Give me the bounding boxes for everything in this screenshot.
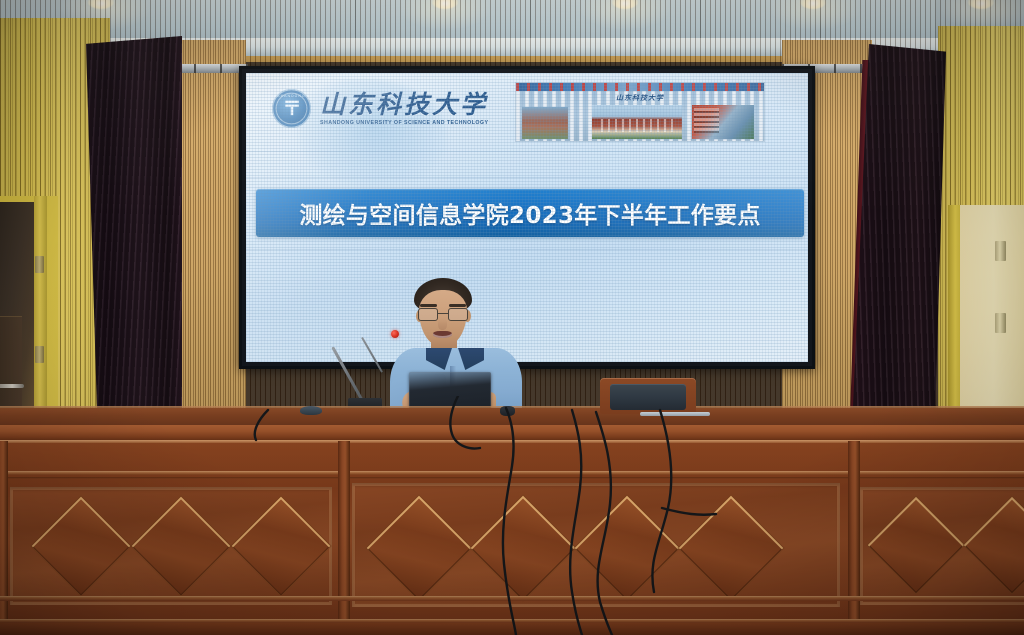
cable-f bbox=[662, 508, 716, 515]
cable-c bbox=[570, 410, 582, 635]
university-seal-icon: SHANDONG 〒 bbox=[272, 89, 311, 128]
collage-gate-title: 山东科技大学 bbox=[616, 93, 664, 103]
door-right-jamb bbox=[948, 205, 960, 428]
slide-title-bar: 测绘与空间信息学院2023年下半年工作要点 bbox=[256, 189, 804, 237]
door-right-hinge-upper bbox=[995, 241, 1006, 261]
collage-top-band bbox=[516, 83, 764, 91]
campus-building-photo bbox=[522, 107, 568, 139]
curtain-left bbox=[86, 36, 182, 428]
university-name-en: SHANDONG UNIVERSITY OF SCIENCE AND TECHN… bbox=[320, 120, 488, 126]
led-screen-surface: SHANDONG 〒 山东科技大学 SHANDONG UNIVERSITY OF… bbox=[246, 73, 808, 362]
logo-text-block: 山东科技大学 SHANDONG UNIVERSITY OF SCIENCE AN… bbox=[320, 91, 488, 126]
cable-a bbox=[450, 396, 480, 448]
photo-scene: SHANDONG 〒 山东科技大学 SHANDONG UNIVERSITY OF… bbox=[0, 0, 1024, 635]
presenter-nose bbox=[438, 318, 447, 330]
cable-d bbox=[596, 412, 612, 635]
door-handle[interactable] bbox=[0, 384, 24, 388]
seal-glyph: 〒 bbox=[282, 100, 300, 119]
door-right-hinge-lower bbox=[995, 313, 1006, 333]
cable-b bbox=[503, 408, 516, 635]
university-logo: SHANDONG 〒 山东科技大学 SHANDONG UNIVERSITY OF… bbox=[272, 89, 488, 128]
slide-title: 测绘与空间信息学院2023年下半年工作要点 bbox=[299, 196, 760, 230]
presenter-brow-left bbox=[420, 304, 437, 307]
glasses-lens-right bbox=[448, 308, 468, 321]
glasses-bridge bbox=[438, 313, 448, 314]
door-hinge-lower bbox=[35, 346, 44, 363]
door-jamb bbox=[34, 196, 47, 428]
cable-group bbox=[0, 396, 1024, 635]
door-hinge-upper bbox=[35, 256, 44, 273]
glasses-lens-left bbox=[418, 308, 438, 321]
campus-gate-photo bbox=[592, 105, 682, 139]
presenter-brow-right bbox=[449, 304, 466, 307]
led-screen: SHANDONG 〒 山东科技大学 SHANDONG UNIVERSITY OF… bbox=[239, 66, 815, 369]
cable-mouse bbox=[255, 410, 268, 440]
campus-photo-collage: 山东科技大学 bbox=[516, 83, 764, 141]
university-name-cn: 山东科技大学 bbox=[320, 91, 488, 118]
cable-e bbox=[652, 410, 671, 592]
microphone-head-icon bbox=[391, 330, 399, 338]
door-left[interactable] bbox=[0, 196, 58, 428]
door-right[interactable] bbox=[948, 205, 1024, 428]
campus-library-photo bbox=[692, 105, 754, 139]
presenter-mouth bbox=[433, 331, 452, 338]
